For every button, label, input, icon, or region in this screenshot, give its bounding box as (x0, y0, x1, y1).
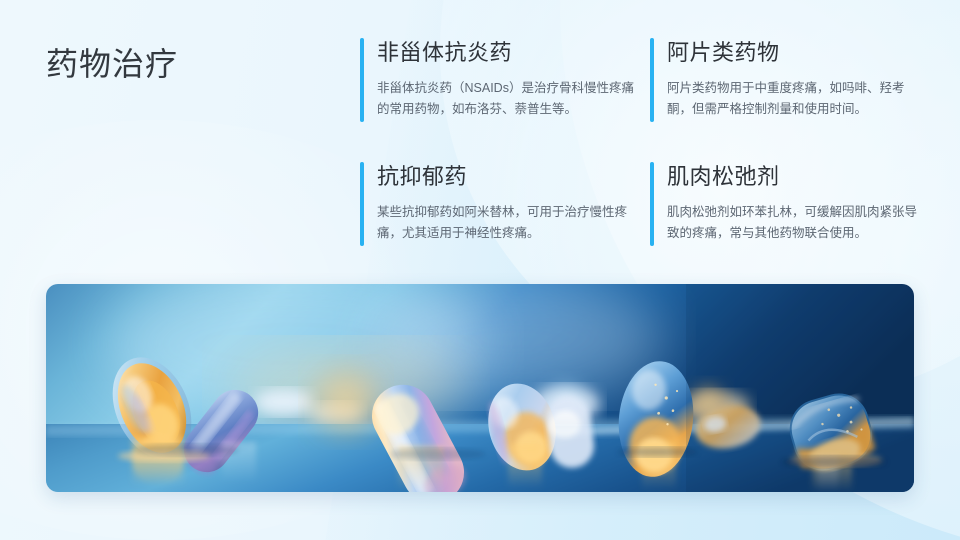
card-muscle-relaxants: 肌肉松弛剂 肌肉松弛剂如环苯扎林，可缓解因肌肉紧张导致的疼痛，常与其他药物联合使… (650, 160, 940, 284)
card-antidepressants: 抗抑郁药 某些抗抑郁药如阿米替林，可用于治疗慢性疼痛，尤其适用于神经性疼痛。 (360, 160, 650, 284)
accent-bar-icon (650, 38, 654, 122)
page-title: 药物治疗 (46, 44, 178, 84)
card-body: 阿片类药物用于中重度疼痛，如吗啡、羟考酮，但需严格控制剂量和使用时间。 (667, 78, 925, 120)
accent-bar-icon (360, 38, 364, 122)
card-title: 阿片类药物 (667, 38, 940, 68)
card-title: 抗抑郁药 (377, 162, 650, 192)
accent-bar-icon (360, 162, 364, 246)
slide-root: 药物治疗 非甾体抗炎药 非甾体抗炎药（NSAIDs）是治疗骨科慢性疼痛的常用药物… (0, 0, 960, 540)
card-body: 某些抗抑郁药如阿米替林，可用于治疗慢性疼痛，尤其适用于神经性疼痛。 (377, 202, 635, 244)
accent-bar-icon (650, 162, 654, 246)
card-opioids: 阿片类药物 阿片类药物用于中重度疼痛，如吗啡、羟考酮，但需严格控制剂量和使用时间… (650, 36, 940, 160)
cards-grid: 非甾体抗炎药 非甾体抗炎药（NSAIDs）是治疗骨科慢性疼痛的常用药物，如布洛芬… (360, 36, 940, 284)
card-title: 肌肉松弛剂 (667, 162, 940, 192)
hero-photo-capsules (46, 284, 914, 492)
card-nsaids: 非甾体抗炎药 非甾体抗炎药（NSAIDs）是治疗骨科慢性疼痛的常用药物，如布洛芬… (360, 36, 650, 160)
card-body: 肌肉松弛剂如环苯扎林，可缓解因肌肉紧张导致的疼痛，常与其他药物联合使用。 (667, 202, 925, 244)
card-body: 非甾体抗炎药（NSAIDs）是治疗骨科慢性疼痛的常用药物，如布洛芬、萘普生等。 (377, 78, 635, 120)
card-title: 非甾体抗炎药 (377, 38, 650, 68)
